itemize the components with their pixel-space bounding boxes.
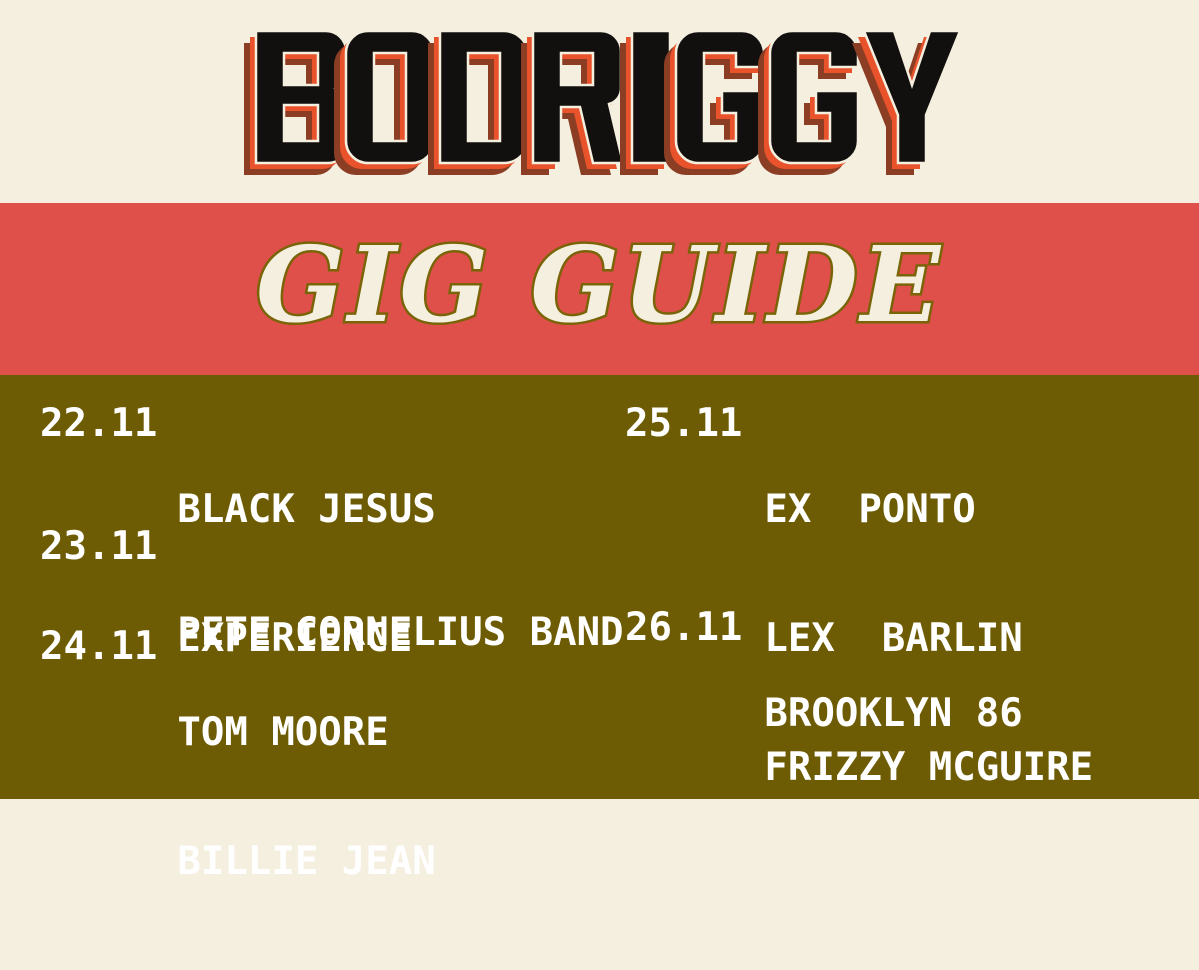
gig-acts: BROOKLYN 86 xyxy=(764,606,1022,821)
brand-logo xyxy=(0,0,1199,203)
gig-date: 23.11 xyxy=(40,525,157,568)
gig-act: BROOKLYN 86 xyxy=(764,692,1022,735)
logo-letter-D xyxy=(428,31,528,175)
gig-entry: 24.11 TOM MOORE BILLIE JEAN xyxy=(40,625,436,969)
gig-guide-title: GIG GUIDE xyxy=(256,233,943,337)
gig-date: 26.11 xyxy=(625,606,742,649)
logo-letter-R xyxy=(521,31,623,175)
logo-letter-B xyxy=(244,31,348,175)
logo-letter-O xyxy=(334,31,434,175)
gig-acts: TOM MOORE BILLIE JEAN xyxy=(177,625,435,969)
logo-letter-G2 xyxy=(758,31,858,175)
gig-act: BILLIE JEAN xyxy=(177,840,435,883)
logo-letter-I xyxy=(620,31,670,175)
bodriggy-logo-svg xyxy=(230,27,970,177)
gig-date: 22.11 xyxy=(40,402,157,445)
gig-act: TOM MOORE xyxy=(177,711,435,754)
gig-act: EX PONTO xyxy=(764,488,1093,531)
logo-letter-Y xyxy=(852,31,960,175)
gig-date: 25.11 xyxy=(625,402,742,445)
gig-date: 24.11 xyxy=(40,625,157,668)
gig-guide-heading: GIG GUIDE xyxy=(0,203,1199,375)
gig-entry: 26.11 BROOKLYN 86 xyxy=(625,606,1023,821)
logo-letter-G1 xyxy=(664,31,764,175)
gig-listings: 22.11 BLACK JESUS EXPERIENCE 23.11 PETE … xyxy=(0,375,1199,799)
gig-guide-poster: GIG GUIDE 22.11 BLACK JESUS EXPERIENCE 2… xyxy=(0,0,1199,799)
